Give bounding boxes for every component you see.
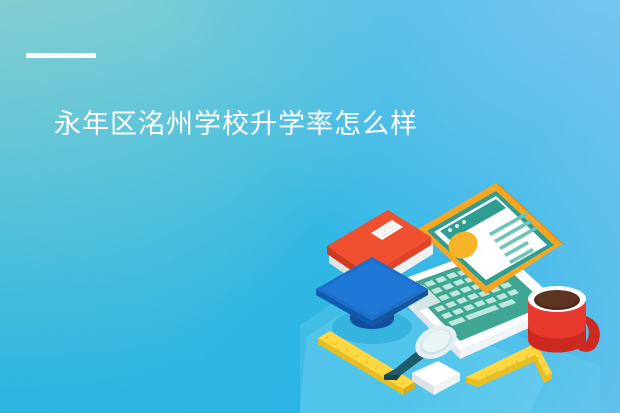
accent-rule [26,53,96,58]
coffee-mug [528,286,600,353]
cover-banner: 永年区洺州学校升学率怎么样 [0,0,620,413]
illustration [300,175,620,413]
page-title: 永年区洺州学校升学率怎么样 [54,108,418,142]
